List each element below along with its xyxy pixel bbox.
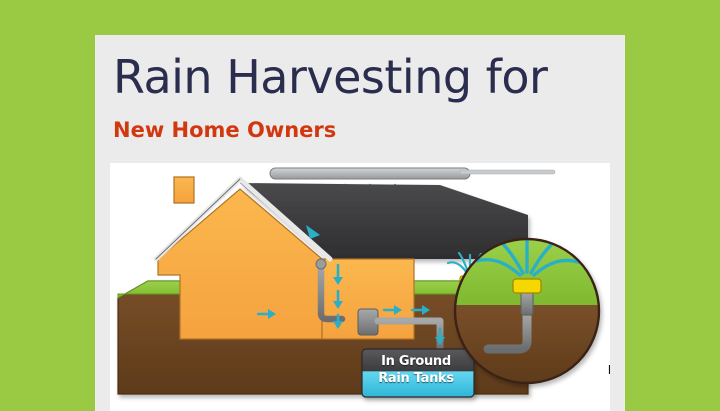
rain-cloud-bar [270, 168, 555, 179]
irrigation-label-line2: System [592, 377, 610, 391]
page-subtitle: New Home Owners [113, 117, 336, 143]
page-title: Rain Harvesting for [113, 50, 547, 104]
tank-label-line2: Rain Tanks [361, 370, 471, 387]
irrigation-label-line1: Irrigation [592, 363, 610, 377]
rain-tank-label: In Ground Rain Tanks [361, 353, 471, 387]
screenshot-root: Rain Harvesting for New Home Owners [0, 0, 720, 411]
rain-harvesting-diagram: Irrigation System [110, 163, 610, 411]
chimney [174, 177, 194, 203]
diagram-svg [110, 163, 610, 411]
magnifier-circle [455, 239, 599, 385]
tank-label-line1: In Ground [361, 353, 471, 370]
irrigation-system-label: Irrigation System [592, 363, 610, 391]
